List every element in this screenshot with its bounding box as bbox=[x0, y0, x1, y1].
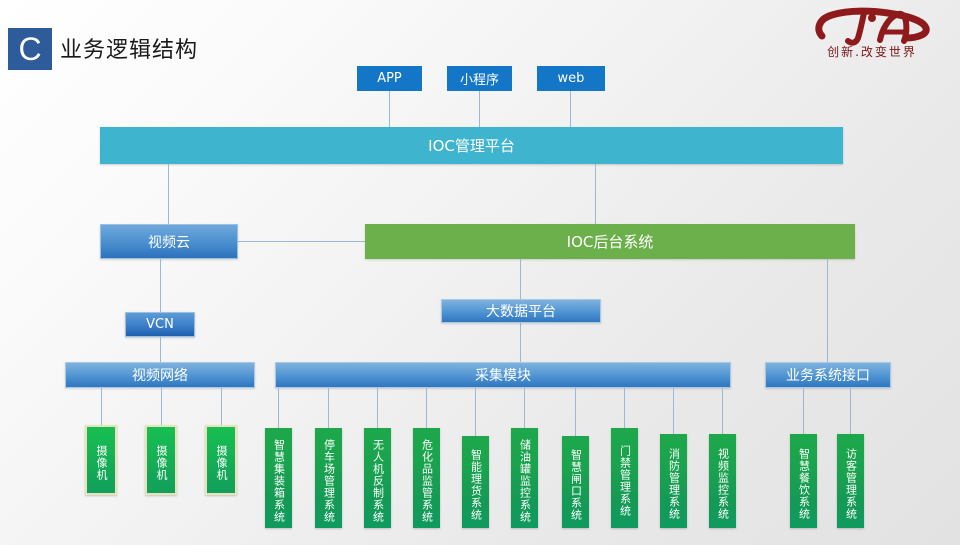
leaf-oil-tank-monitor-system[interactable]: 储油罐监控系统 bbox=[511, 428, 538, 528]
node-vcn[interactable]: VCN bbox=[125, 312, 195, 337]
connector-bigdata-collect bbox=[520, 323, 521, 364]
connector-videocloud-vcn bbox=[160, 259, 161, 312]
connector-collect-sys-1 bbox=[278, 388, 279, 428]
node-collect-module[interactable]: 采集模块 bbox=[275, 362, 731, 388]
node-web[interactable]: web bbox=[537, 66, 605, 91]
leaf-video-surveillance-system[interactable]: 视频监控系统 bbox=[709, 434, 736, 528]
leaf-smart-catering-system[interactable]: 智慧餐饮系统 bbox=[790, 434, 817, 528]
connector-collect-sys-8 bbox=[624, 388, 625, 428]
connector-videonet-camera-1 bbox=[101, 388, 102, 425]
connector-biz-sys-1 bbox=[803, 388, 804, 434]
connector-collect-sys-10 bbox=[722, 388, 723, 434]
connector-collect-sys-4 bbox=[426, 388, 427, 428]
connector-collect-sys-2 bbox=[328, 388, 329, 428]
leaf-uav-counter-system[interactable]: 无人机反制系统 bbox=[364, 428, 391, 528]
node-ioc-backend[interactable]: IOC后台系统 bbox=[365, 224, 855, 259]
leaf-hazardous-chemicals-system[interactable]: 危化品监管系统 bbox=[413, 428, 440, 528]
node-ioc-platform[interactable]: IOC管理平台 bbox=[100, 127, 843, 164]
connector-platform-backend bbox=[595, 164, 596, 224]
node-bigdata-platform[interactable]: 大数据平台 bbox=[441, 299, 601, 323]
leaf-access-control-system[interactable]: 门禁管理系统 bbox=[611, 428, 638, 528]
connector-app-platform bbox=[389, 90, 390, 128]
leaf-smart-container-system[interactable]: 智慧集装箱系统 bbox=[265, 428, 292, 528]
connector-web-platform bbox=[570, 90, 571, 128]
leaf-camera-1[interactable]: 摄像机 bbox=[85, 425, 117, 495]
node-app[interactable]: APP bbox=[357, 66, 422, 91]
node-video-cloud[interactable]: 视频云 bbox=[100, 224, 238, 259]
logo-mark-icon bbox=[802, 6, 942, 48]
connector-miniapp-platform bbox=[479, 90, 480, 128]
connector-collect-sys-5 bbox=[475, 388, 476, 436]
page-title: 业务逻辑结构 bbox=[60, 32, 198, 64]
connector-backend-bigdata bbox=[520, 259, 521, 299]
connector-biz-sys-2 bbox=[850, 388, 851, 434]
node-business-interface[interactable]: 业务系统接口 bbox=[765, 362, 891, 388]
connector-platform-videocloud bbox=[168, 164, 169, 224]
connector-videonet-camera-3 bbox=[221, 388, 222, 425]
node-video-network[interactable]: 视频网络 bbox=[65, 362, 255, 388]
leaf-camera-3[interactable]: 摄像机 bbox=[205, 425, 237, 495]
connector-collect-sys-3 bbox=[377, 388, 378, 428]
connector-videocloud-backend bbox=[238, 241, 365, 242]
leaf-smart-tally-system[interactable]: 智能理货系统 bbox=[462, 436, 489, 528]
node-miniprogram[interactable]: 小程序 bbox=[447, 66, 512, 91]
connector-backend-bizinterface bbox=[827, 259, 828, 364]
company-logo: 创新.改变世界 bbox=[802, 6, 942, 60]
leaf-camera-2[interactable]: 摄像机 bbox=[145, 425, 177, 495]
connector-videonet-camera-2 bbox=[161, 388, 162, 425]
section-badge: C bbox=[8, 28, 52, 70]
leaf-visitor-management-system[interactable]: 访客管理系统 bbox=[837, 434, 864, 528]
leaf-smart-gate-system[interactable]: 智慧闸口系统 bbox=[562, 436, 589, 528]
connector-collect-sys-7 bbox=[575, 388, 576, 436]
connector-collect-sys-6 bbox=[524, 388, 525, 428]
leaf-parking-management-system[interactable]: 停车场管理系统 bbox=[315, 428, 342, 528]
connector-vcn-videonet bbox=[160, 337, 161, 364]
logo-tagline: 创新.改变世界 bbox=[802, 43, 942, 60]
connector-collect-sys-9 bbox=[673, 388, 674, 434]
slide-canvas: C 业务逻辑结构 创新.改变世界 APP 小程序 web IOC管理平台 视频云… bbox=[0, 0, 960, 545]
leaf-fire-management-system[interactable]: 消防管理系统 bbox=[660, 434, 687, 528]
